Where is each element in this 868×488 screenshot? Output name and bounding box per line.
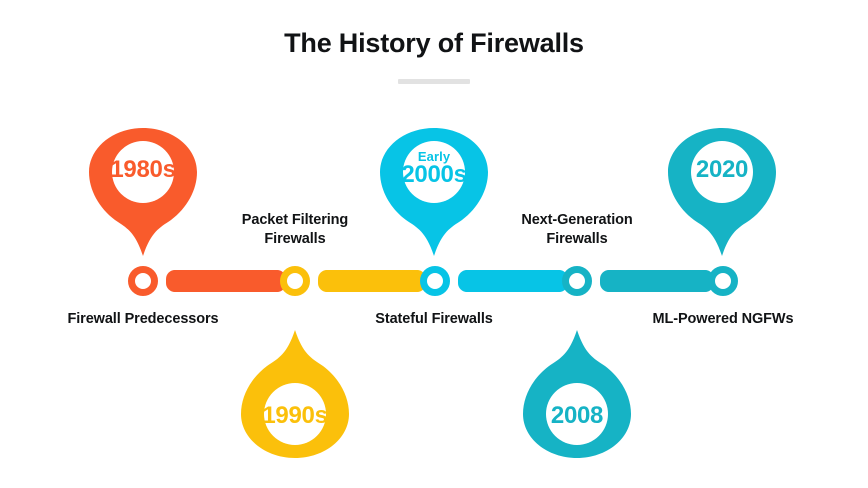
pin-main-label: 2020: [668, 158, 776, 182]
caption-stateful-firewalls: Stateful Firewalls: [364, 310, 504, 329]
caption-firewall-predecessors: Firewall Predecessors: [63, 310, 223, 329]
timeline-connector-1: [172, 270, 280, 292]
pin-label-early-2000s: Early 2000s: [380, 150, 488, 188]
caption-next-generation-firewalls: Next-Generation Firewalls: [492, 211, 662, 248]
pin-main-label: 1990s: [241, 404, 349, 428]
pin-marker-2020[interactable]: 2020: [668, 128, 776, 236]
caption-text: Packet Filtering Firewalls: [242, 212, 348, 247]
pin-main-label: 2008: [523, 404, 631, 428]
pin-main-label: 1980s: [89, 158, 197, 182]
pin-label-1980s: 1980s: [89, 158, 197, 182]
timeline-node-ml-powered-ngfws[interactable]: [708, 266, 738, 296]
pin-marker-2008[interactable]: 2008: [523, 330, 631, 438]
timeline-node-next-generation-firewalls[interactable]: [562, 266, 592, 296]
page-title: The History of Firewalls: [0, 28, 868, 59]
pin-marker-1990s[interactable]: 1990s: [241, 330, 349, 438]
pin-label-2008: 2008: [523, 404, 631, 428]
timeline-connector-3: [464, 270, 562, 292]
pin-marker-early-2000s[interactable]: Early 2000s: [380, 128, 488, 236]
caption-ml-powered-ngfws: ML-Powered NGFWs: [640, 310, 806, 329]
timeline-node-firewall-predecessors[interactable]: [128, 266, 158, 296]
timeline-connector-2: [324, 270, 420, 292]
infographic-canvas: The History of Firewalls 1980s 1990s: [0, 0, 868, 488]
pin-main-label: 2000s: [380, 163, 488, 187]
caption-packet-filtering-firewalls: Packet Filtering Firewalls: [215, 211, 375, 248]
title-divider: [398, 79, 470, 84]
timeline-connector-4: [606, 270, 708, 292]
pin-label-2020: 2020: [668, 158, 776, 182]
pin-label-1990s: 1990s: [241, 404, 349, 428]
caption-text: Next-Generation Firewalls: [521, 212, 632, 247]
timeline-node-stateful-firewalls[interactable]: [420, 266, 450, 296]
timeline-node-packet-filtering-firewalls[interactable]: [280, 266, 310, 296]
caption-text: Firewall Predecessors: [67, 311, 218, 327]
caption-text: Stateful Firewalls: [375, 311, 492, 327]
caption-text: ML-Powered NGFWs: [653, 311, 794, 327]
pin-marker-1980s[interactable]: 1980s: [89, 128, 197, 236]
